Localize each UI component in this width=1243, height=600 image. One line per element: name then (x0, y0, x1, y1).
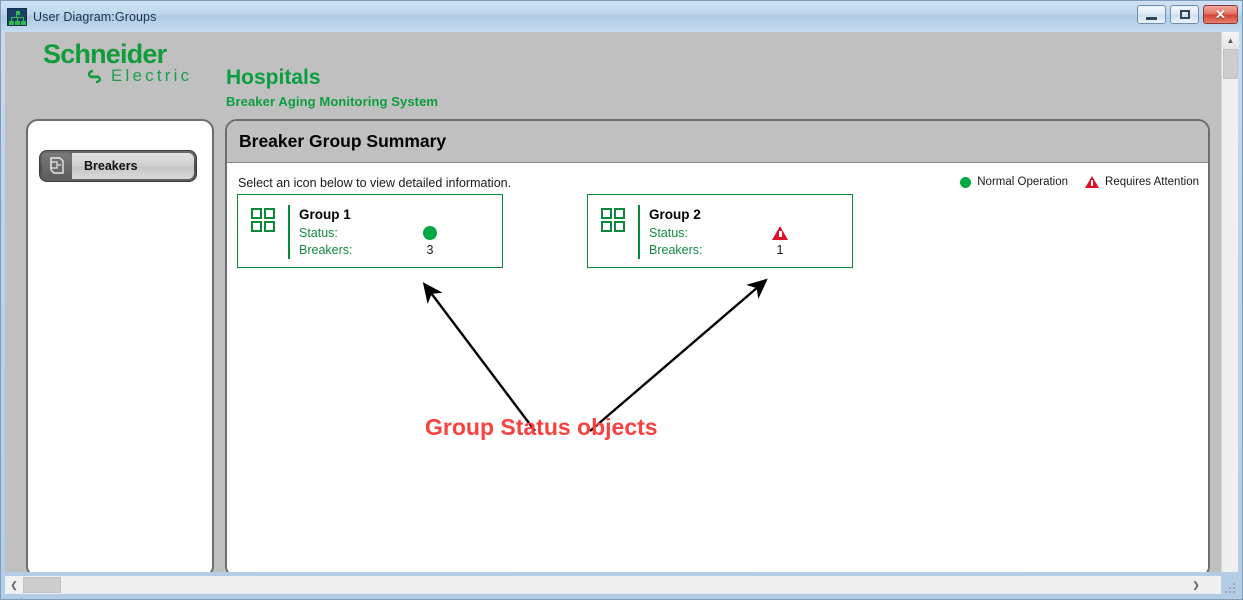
green-circle-icon (423, 226, 437, 240)
group-status-indicator (419, 226, 441, 240)
close-button[interactable]: ✕ (1203, 5, 1238, 24)
breaker-document-icon (42, 153, 72, 179)
red-warning-triangle-icon (772, 226, 788, 240)
client-area: Schneider Electric Hospitals Breaker Agi… (5, 32, 1221, 572)
group-status-label: Status: (299, 226, 338, 240)
scrollbar-corner (1205, 576, 1221, 594)
group-breakers-count: 1 (764, 243, 796, 257)
green-circle-icon (960, 177, 971, 188)
vertical-scroll-thumb[interactable] (1223, 49, 1238, 79)
window-title: User Diagram:Groups (33, 10, 156, 24)
application-window: User Diagram:Groups ✕ Schneider (0, 0, 1243, 600)
horizontal-scroll-track[interactable] (61, 576, 1187, 594)
group-status-label: Status: (649, 226, 688, 240)
panel-header: Breaker Group Summary (227, 121, 1208, 163)
group-card[interactable]: Group 1 Status: Breakers: 3 (237, 194, 503, 268)
page-subtitle: Breaker Aging Monitoring System (226, 93, 438, 111)
group-grid-icon (601, 208, 625, 232)
logo-electric-text: Electric (111, 66, 192, 86)
group-name: Group 2 (649, 207, 701, 222)
maximize-button[interactable] (1170, 5, 1199, 24)
legend: Normal Operation Requires Attention (960, 176, 1199, 188)
schneider-electric-logo: Schneider Electric (43, 40, 223, 98)
close-icon: ✕ (1215, 8, 1226, 21)
minimize-button[interactable] (1137, 5, 1166, 24)
legend-item-attention: Requires Attention (1085, 176, 1199, 188)
group-name: Group 1 (299, 207, 351, 222)
card-divider (288, 205, 290, 259)
panel-title: Breaker Group Summary (239, 131, 446, 152)
app-title-block: Hospitals Breaker Aging Monitoring Syste… (226, 66, 438, 111)
window-controls: ✕ (1137, 5, 1238, 24)
legend-label-attention: Requires Attention (1105, 176, 1199, 188)
title-bar[interactable]: User Diagram:Groups ✕ (1, 1, 1243, 32)
group-breakers-label: Breakers: (649, 243, 703, 257)
sidebar-panel: Breakers (26, 119, 214, 572)
scroll-left-button[interactable]: ❮ (5, 576, 23, 594)
horizontal-scrollbar[interactable]: ❮ ❯ (5, 576, 1221, 594)
group-breakers-count: 3 (414, 243, 446, 257)
legend-item-normal: Normal Operation (960, 176, 1068, 188)
card-divider (638, 205, 640, 259)
group-grid-icon (251, 208, 275, 232)
group-status-indicator (769, 226, 791, 240)
arrow-to-group2-status (590, 281, 765, 431)
red-warning-triangle-icon (1085, 176, 1099, 188)
minimize-icon (1146, 17, 1157, 20)
group-breakers-label: Breakers: (299, 243, 353, 257)
group-card[interactable]: Group 2 Status: Breakers: 1 (587, 194, 853, 268)
maximize-icon (1180, 10, 1190, 19)
schneider-lifeison-mark-icon (87, 68, 107, 85)
sidebar-item-breakers-label: Breakers (84, 159, 138, 173)
scroll-right-button[interactable]: ❯ (1187, 576, 1205, 594)
legend-label-normal: Normal Operation (977, 176, 1068, 188)
sidebar-item-breakers-label-box: Breakers (72, 153, 194, 179)
annotation-label: Group Status objects (425, 414, 658, 441)
sidebar-item-breakers[interactable]: Breakers (39, 150, 197, 182)
instruction-text: Select an icon below to view detailed in… (238, 176, 511, 190)
logo-schneider-text: Schneider (43, 40, 223, 68)
page-title: Hospitals (226, 66, 438, 90)
panel-body: Select an icon below to view detailed in… (227, 163, 1208, 572)
hierarchy-icon (7, 8, 27, 26)
main-panel: Breaker Group Summary Select an icon bel… (225, 119, 1210, 572)
scroll-up-button[interactable]: ▲ (1222, 32, 1239, 49)
horizontal-scroll-thumb[interactable] (23, 577, 61, 593)
arrow-to-group1-status (425, 285, 535, 431)
window-bottom-strip (1, 594, 1243, 599)
vertical-scrollbar[interactable]: ▲ (1221, 32, 1238, 572)
